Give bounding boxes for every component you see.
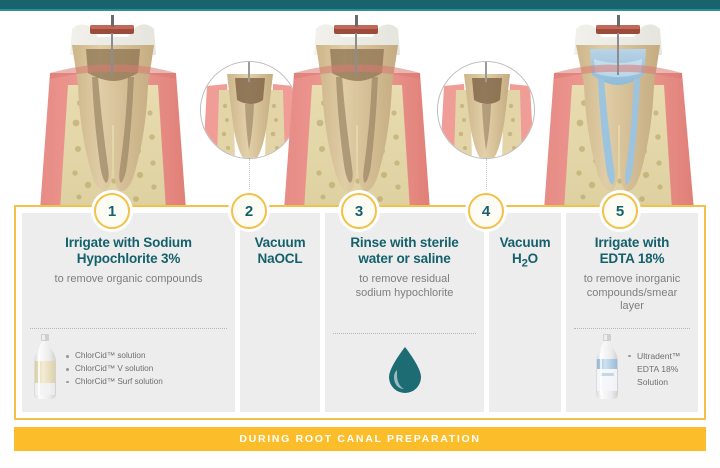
- step-3-title-line1: Rinse with sterile: [335, 235, 474, 251]
- step-4-formula-h: H: [512, 251, 522, 266]
- step-5-title: Irrigate with EDTA 18%: [576, 235, 688, 268]
- step-panel-1[interactable]: Irrigate with Sodium Hypochlorite 3% to …: [22, 213, 235, 412]
- step-1-body: ChlorCid™ solution ChlorCid™ V solution …: [22, 329, 235, 412]
- step-2-head: Vacuum NaOCL: [240, 235, 320, 268]
- product-item: ChlorCid™ V solution: [66, 363, 163, 376]
- steps-panel-row: Irrigate with Sodium Hypochlorite 3% to …: [22, 213, 698, 412]
- edta-bottle-icon: [592, 333, 622, 406]
- step-3-subtitle-line1: to remove residual: [335, 273, 474, 287]
- step-badge-2[interactable]: 2: [231, 193, 267, 229]
- step-badge-4-label: 4: [482, 203, 490, 220]
- step-1-product-list: ChlorCid™ solution ChlorCid™ V solution …: [66, 350, 163, 388]
- product-item: Ultradent™ EDTA 18% Solution: [628, 350, 690, 390]
- step-1-title: Irrigate with Sodium Hypochlorite 3%: [32, 235, 225, 268]
- step-badge-4[interactable]: 4: [468, 193, 504, 229]
- step-1-head: Irrigate with Sodium Hypochlorite 3% to …: [22, 235, 235, 287]
- infographic-root: 1 2 3 4 5 Irrigate with Sodium Hypochlor…: [0, 0, 720, 468]
- step-3-title-line2: water or saline: [335, 251, 474, 267]
- step-3-head: Rinse with sterile water or saline to re…: [325, 235, 484, 300]
- step-2-title-line2: NaOCL: [250, 251, 310, 267]
- step-5-head: Irrigate with EDTA 18% to remove inorgan…: [566, 235, 698, 314]
- step-4-formula-o: O: [528, 251, 538, 266]
- water-droplet-icon: [385, 345, 425, 400]
- step-2-title-line1: Vacuum: [250, 235, 310, 251]
- tooth-cross-section-3: [272, 15, 442, 210]
- step-5-subtitle-line2: compounds/smear layer: [576, 287, 688, 315]
- illustration-band: [0, 11, 720, 210]
- step-5-body: Ultradent™ EDTA 18% Solution: [566, 329, 698, 412]
- step-badge-1-label: 1: [108, 203, 116, 220]
- step-4-title-line2: H2O: [499, 251, 551, 271]
- step-4-head: Vacuum H2O: [489, 235, 561, 272]
- step-panel-3[interactable]: Rinse with sterile water or saline to re…: [325, 213, 484, 412]
- step-3-subtitle: to remove residual sodium hypochlorite: [335, 273, 474, 301]
- step-badge-3-label: 3: [355, 203, 363, 220]
- step-5-subtitle: to remove inorganic compounds/smear laye…: [576, 273, 688, 314]
- step-3-subtitle-line2: sodium hypochlorite: [335, 287, 474, 301]
- step-panel-5[interactable]: Irrigate with EDTA 18% to remove inorgan…: [566, 213, 698, 412]
- chlorcid-bottle-icon: [30, 333, 60, 406]
- product-item: ChlorCid™ Surf solution: [66, 376, 163, 389]
- step-panel-4[interactable]: Vacuum H2O: [489, 213, 561, 412]
- steps-card: Irrigate with Sodium Hypochlorite 3% to …: [14, 205, 706, 420]
- step-badge-5-label: 5: [616, 203, 624, 220]
- step-1-subtitle: to remove organic compounds: [32, 273, 225, 287]
- step-5-subtitle-line1: to remove inorganic: [576, 273, 688, 287]
- step-badge-1[interactable]: 1: [94, 193, 130, 229]
- tooth-cross-section-1: [28, 15, 198, 210]
- step-3-body: [325, 334, 484, 412]
- bottom-banner: DURING ROOT CANAL PREPARATION: [14, 427, 706, 451]
- step-badge-2-label: 2: [245, 203, 253, 220]
- step-4-title-line1: Vacuum: [499, 235, 551, 251]
- tooth-cross-section-5: [528, 15, 708, 210]
- step-badge-3[interactable]: 3: [341, 193, 377, 229]
- bottom-banner-label: DURING ROOT CANAL PREPARATION: [239, 433, 480, 445]
- product-item: ChlorCid™ solution: [66, 350, 163, 363]
- step-panel-2[interactable]: Vacuum NaOCL: [240, 213, 320, 412]
- tooth-inset-magnified-4: [437, 61, 535, 159]
- step-5-product-list: Ultradent™ EDTA 18% Solution: [628, 350, 690, 390]
- top-accent-rule: [0, 0, 720, 11]
- step-badge-5[interactable]: 5: [602, 193, 638, 229]
